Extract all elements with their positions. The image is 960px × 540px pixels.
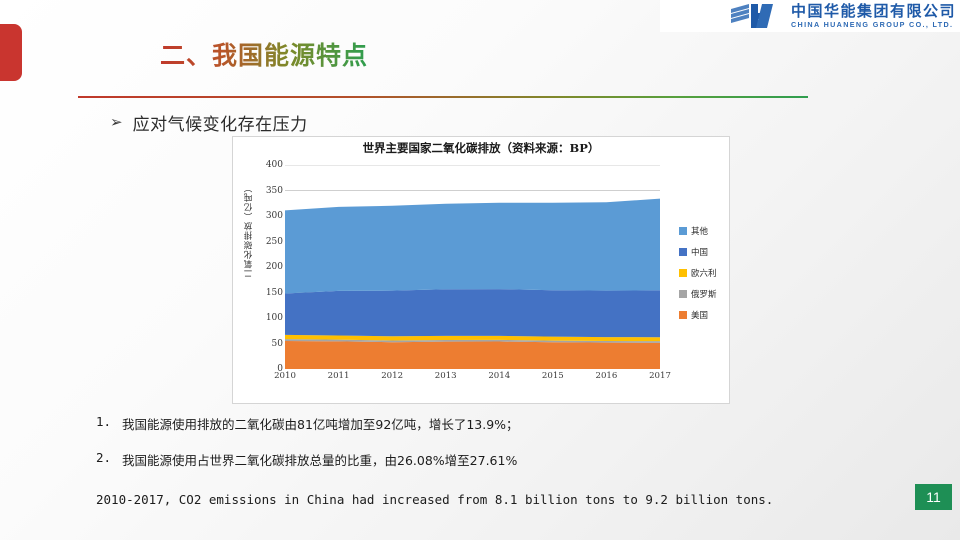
huaneng-logo-icon xyxy=(729,2,785,30)
accent-tab xyxy=(0,24,22,81)
notes-block: 1. 我国能源使用排放的二氧化碳由81亿吨增加至92亿吨，增长了13.9%； 2… xyxy=(96,414,886,486)
chart-y-tick: 250 xyxy=(266,237,283,247)
chart-y-tick: 50 xyxy=(272,339,283,349)
series-美国 xyxy=(285,341,660,369)
legend-label: 中国 xyxy=(691,246,708,258)
chart-x-tick: 2017 xyxy=(649,371,671,381)
legend-item[interactable]: 其他 xyxy=(679,225,727,237)
slide: 中国华能集团有限公司 CHINA HUANENG GROUP CO., LTD.… xyxy=(0,0,960,540)
brand-logo-text: 中国华能集团有限公司 CHINA HUANENG GROUP CO., LTD. xyxy=(791,4,956,28)
chart-legend: 其他中国欧六利俄罗斯美国 xyxy=(679,225,727,330)
legend-swatch-icon xyxy=(679,290,687,298)
bullet-row: ➢ 应对气候变化存在压力 xyxy=(110,110,308,135)
legend-label: 俄罗斯 xyxy=(691,288,717,300)
chart-x-tick: 2014 xyxy=(488,371,510,381)
chart-plot-area xyxy=(285,165,660,369)
legend-label: 其他 xyxy=(691,225,708,237)
note-item: 1. 我国能源使用排放的二氧化碳由81亿吨增加至92亿吨，增长了13.9%； xyxy=(96,414,886,433)
note-item: 2. 我国能源使用占世界二氧化碳排放总量的比重，由26.08%增至27.61% xyxy=(96,450,886,469)
chart-title: 世界主要国家二氧化碳排放（资料来源：BP） xyxy=(233,140,729,156)
chart-y-tick: 400 xyxy=(266,160,283,170)
chart-x-tick: 2013 xyxy=(435,371,457,381)
legend-item[interactable]: 中国 xyxy=(679,246,727,258)
brand-logo: 中国华能集团有限公司 CHINA HUANENG GROUP CO., LTD. xyxy=(660,0,960,32)
legend-label: 美国 xyxy=(691,309,708,321)
chart-x-axis-ticks: 20102011201220132014201520162017 xyxy=(285,371,660,385)
page-title: 二、我国能源特点 xyxy=(160,36,368,72)
legend-swatch-icon xyxy=(679,269,687,277)
chart-x-tick: 2016 xyxy=(595,371,617,381)
chart-panel: 世界主要国家二氧化碳排放（资料来源：BP） 二氧化碳排放（亿吨） 0501001… xyxy=(232,136,730,404)
chart-y-tick: 200 xyxy=(266,262,283,272)
bullet-label: 应对气候变化存在压力 xyxy=(133,110,308,135)
legend-swatch-icon xyxy=(679,248,687,256)
chart-x-tick: 2011 xyxy=(328,371,350,381)
chart-y-tick: 350 xyxy=(266,186,283,196)
legend-item[interactable]: 美国 xyxy=(679,309,727,321)
page-number-badge: 11 xyxy=(915,484,952,510)
note-text: 我国能源使用排放的二氧化碳由81亿吨增加至92亿吨，增长了13.9%； xyxy=(122,414,519,433)
chart-y-axis-ticks: 050100150200250300350400 xyxy=(251,165,283,369)
title-divider xyxy=(78,96,808,98)
chart-x-tick: 2010 xyxy=(274,371,296,381)
chart-y-tick: 100 xyxy=(266,313,283,323)
legend-item[interactable]: 俄罗斯 xyxy=(679,288,727,300)
legend-swatch-icon xyxy=(679,311,687,319)
chart-x-tick: 2012 xyxy=(381,371,403,381)
note-text: 我国能源使用占世界二氧化碳排放总量的比重，由26.08%增至27.61% xyxy=(122,450,517,469)
note-english: 2010-2017, CO2 emissions in China had in… xyxy=(96,486,896,514)
series-中国 xyxy=(285,289,660,337)
legend-item[interactable]: 欧六利 xyxy=(679,267,727,279)
note-number: 2. xyxy=(96,450,122,465)
legend-swatch-icon xyxy=(679,227,687,235)
chart-y-tick: 300 xyxy=(266,211,283,221)
note-number: 1. xyxy=(96,414,122,429)
brand-name-cn: 中国华能集团有限公司 xyxy=(791,4,956,19)
arrow-right-icon: ➢ xyxy=(110,115,123,130)
chart-x-tick: 2015 xyxy=(542,371,564,381)
legend-label: 欧六利 xyxy=(691,267,717,279)
brand-name-en: CHINA HUANENG GROUP CO., LTD. xyxy=(791,21,956,28)
chart-y-tick: 150 xyxy=(266,288,283,298)
series-其他 xyxy=(285,199,660,294)
chart-area-series xyxy=(285,165,660,369)
